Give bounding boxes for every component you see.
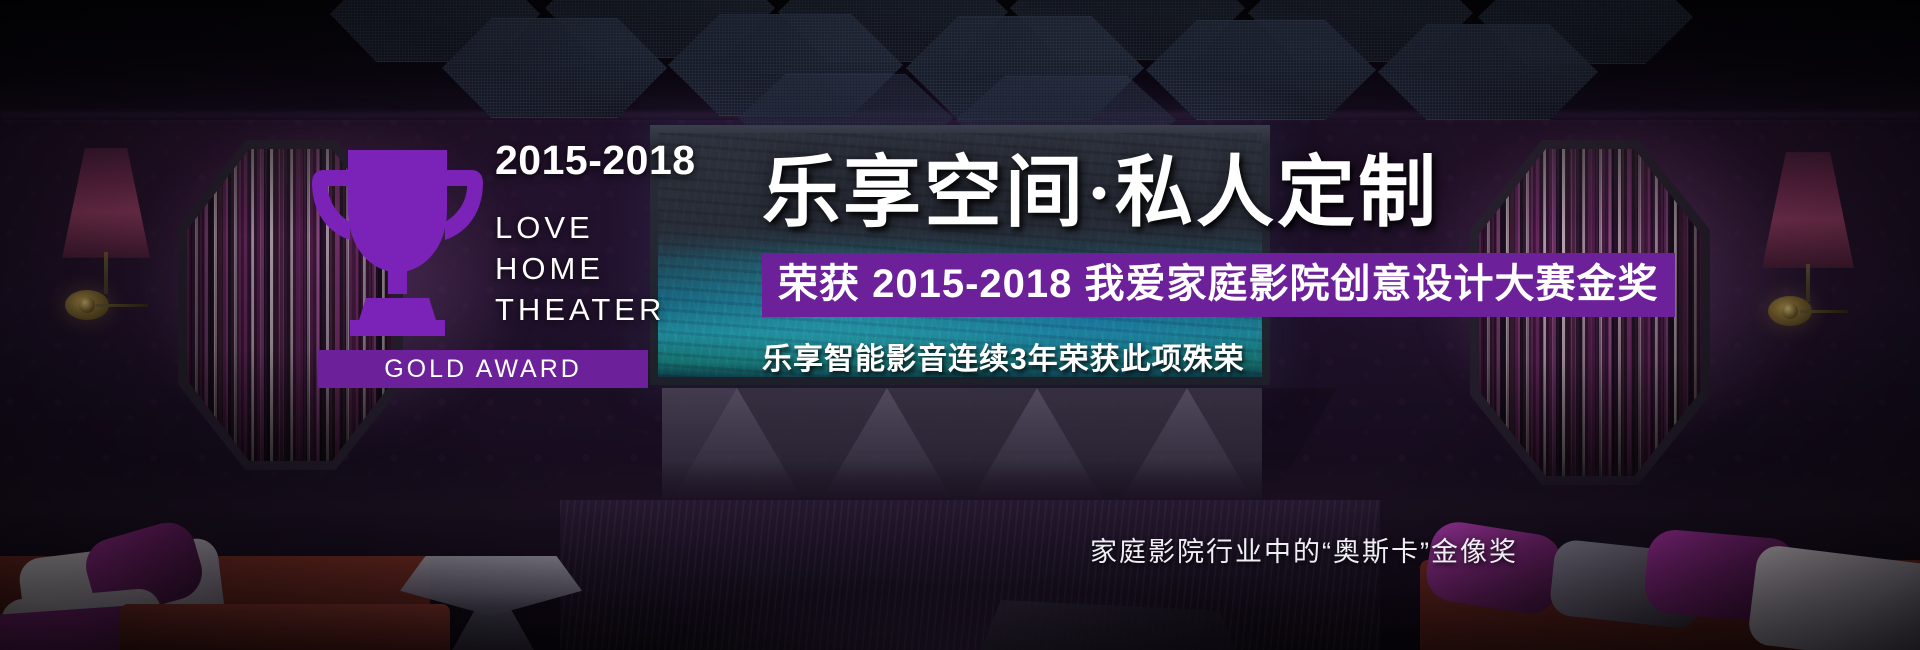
award-subtitle: LOVE HOME THEATER xyxy=(495,207,725,331)
gold-award-badge: GOLD AWARD xyxy=(318,350,648,388)
award-subtitle-line-1: LOVE xyxy=(495,207,725,248)
home-theater-award-banner: 2015-2018 LOVE HOME THEATER GOLD AWARD 乐… xyxy=(0,0,1920,650)
award-highlight-bar: 荣获 2015-2018 我爱家庭影院创意设计大赛金奖 xyxy=(762,253,1675,317)
award-subtitle-line-2: HOME xyxy=(495,248,725,289)
page-title: 乐享空间·私人定制 xyxy=(762,152,1682,235)
award-highlight-label: 荣获 2015-2018 我爱家庭影院创意设计大赛金奖 xyxy=(778,262,1659,306)
banner-content: 2015-2018 LOVE HOME THEATER GOLD AWARD 乐… xyxy=(0,0,1920,650)
award-subtitle-line-3: THEATER xyxy=(495,289,725,330)
award-years: 2015-2018 xyxy=(495,140,725,181)
main-text-block: 乐享空间·私人定制 荣获 2015-2018 我爱家庭影院创意设计大赛金奖 乐享… xyxy=(762,152,1682,378)
gold-award-badge-label: GOLD AWARD xyxy=(384,355,582,384)
footnote: 家庭影院行业中的“奥斯卡”金像奖 xyxy=(1090,530,1518,569)
award-text-block: 2015-2018 LOVE HOME THEATER xyxy=(495,140,725,331)
trophy-icon xyxy=(310,148,485,338)
tagline: 乐享智能影音连续3年荣获此项殊荣 xyxy=(762,334,1682,378)
